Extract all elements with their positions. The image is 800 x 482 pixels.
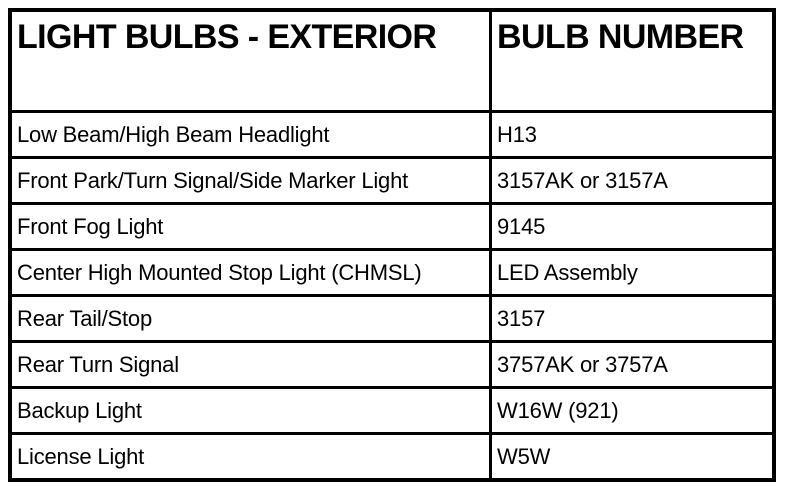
table-header-row: LIGHT BULBS - EXTERIOR BULB NUMBER (10, 10, 774, 112)
table-row: Front Fog Light 9145 (10, 204, 774, 250)
cell-light-name: Backup Light (10, 388, 491, 434)
cell-light-name: License Light (10, 434, 491, 481)
cell-light-name: Low Beam/High Beam Headlight (10, 112, 491, 158)
cell-bulb-number: W16W (921) (491, 388, 774, 434)
table-row: Center High Mounted Stop Light (CHMSL) L… (10, 250, 774, 296)
light-name-label: Front Park/Turn Signal/Side Marker Light (17, 168, 485, 194)
bulb-number-label: 3157AK or 3157A (497, 168, 768, 194)
cell-bulb-number: H13 (491, 112, 774, 158)
light-name-label: Rear Tail/Stop (17, 306, 485, 332)
bulb-number-label: 3757AK or 3757A (497, 352, 768, 378)
table-row: Backup Light W16W (921) (10, 388, 774, 434)
cell-bulb-number: LED Assembly (491, 250, 774, 296)
light-name-label: Front Fog Light (17, 214, 485, 240)
cell-bulb-number: 3157 (491, 296, 774, 342)
table-header: LIGHT BULBS - EXTERIOR BULB NUMBER (10, 10, 774, 112)
column-header-bulb-number: BULB NUMBER (491, 10, 774, 112)
table-row: Rear Tail/Stop 3157 (10, 296, 774, 342)
column-header-light-bulbs-exterior: LIGHT BULBS - EXTERIOR (10, 10, 491, 112)
cell-bulb-number: W5W (491, 434, 774, 481)
cell-bulb-number: 3757AK or 3757A (491, 342, 774, 388)
bulb-number-label: LED Assembly (497, 260, 768, 286)
bulb-number-label: 9145 (497, 214, 768, 240)
bulb-number-label: 3157 (497, 306, 768, 332)
cell-light-name: Front Fog Light (10, 204, 491, 250)
cell-light-name: Rear Turn Signal (10, 342, 491, 388)
table-row: License Light W5W (10, 434, 774, 481)
page-root: LIGHT BULBS - EXTERIOR BULB NUMBER Low B… (0, 0, 800, 454)
table-row: Low Beam/High Beam Headlight H13 (10, 112, 774, 158)
exterior-bulb-table: LIGHT BULBS - EXTERIOR BULB NUMBER Low B… (8, 8, 776, 482)
cell-light-name: Rear Tail/Stop (10, 296, 491, 342)
bulb-number-label: W5W (497, 444, 768, 470)
table-row: Rear Turn Signal 3757AK or 3757A (10, 342, 774, 388)
cell-light-name: Front Park/Turn Signal/Side Marker Light (10, 158, 491, 204)
table-body: Low Beam/High Beam Headlight H13 Front P… (10, 112, 774, 481)
light-name-label: Rear Turn Signal (17, 352, 485, 378)
column-header-bulb-number-label: BULB NUMBER (497, 18, 768, 56)
table-row: Front Park/Turn Signal/Side Marker Light… (10, 158, 774, 204)
column-header-light-bulbs-exterior-label: LIGHT BULBS - EXTERIOR (17, 18, 485, 56)
light-name-label: Backup Light (17, 398, 485, 424)
bulb-number-label: W16W (921) (497, 398, 768, 424)
light-name-label: Center High Mounted Stop Light (CHMSL) (17, 260, 485, 286)
light-name-label: Low Beam/High Beam Headlight (17, 122, 485, 148)
cell-bulb-number: 9145 (491, 204, 774, 250)
cell-light-name: Center High Mounted Stop Light (CHMSL) (10, 250, 491, 296)
light-name-label: License Light (17, 444, 485, 470)
cell-bulb-number: 3157AK or 3157A (491, 158, 774, 204)
bulb-number-label: H13 (497, 122, 768, 148)
